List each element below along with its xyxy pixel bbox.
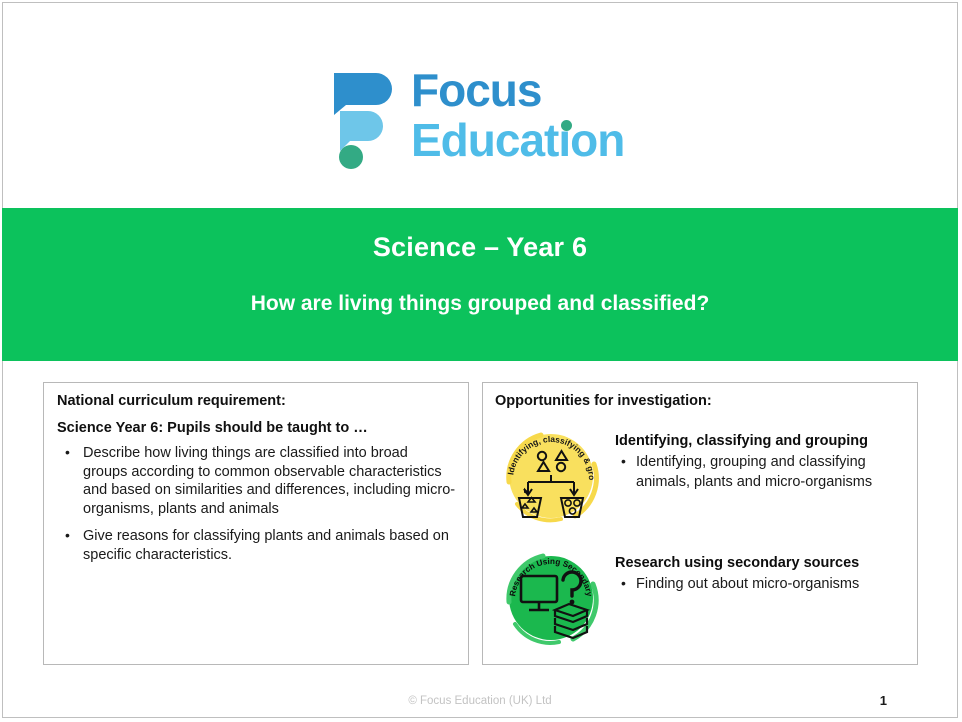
investigation-item-title: Research using secondary sources xyxy=(615,554,907,572)
curriculum-heading: National curriculum requirement: xyxy=(57,393,456,410)
investigation-item-text: Research using secondary sources Finding… xyxy=(607,542,907,595)
investigation-item: Research Using Secondary Sources xyxy=(495,542,907,654)
investigation-item-text: Identifying, classifying and grouping Id… xyxy=(607,420,907,492)
national-curriculum-box: National curriculum requirement: Science… xyxy=(43,382,469,665)
investigation-item-bullets: Identifying, grouping and classifying an… xyxy=(615,453,907,492)
logo-i-dot-icon xyxy=(561,120,572,131)
curriculum-bullet-list: Describe how living things are classifie… xyxy=(57,444,456,564)
footer-copyright: © Focus Education (UK) Ltd xyxy=(3,695,957,707)
identifying-classifying-grouping-badge-icon: Identifying, classifying & grouping xyxy=(495,420,607,532)
list-item: Describe how living things are classifie… xyxy=(57,444,456,518)
curriculum-subheading: Science Year 6: Pupils should be taught … xyxy=(57,420,456,437)
investigation-item: Identifying, classifying & grouping xyxy=(495,420,907,532)
list-item: Identifying, grouping and classifying an… xyxy=(615,453,907,492)
focus-education-wordmark: Focus Education xyxy=(411,65,641,169)
opportunities-for-investigation-box: Opportunities for investigation: Identif… xyxy=(482,382,918,665)
banner-title: Science – Year 6 xyxy=(2,232,958,263)
title-banner: Science – Year 6 How are living things g… xyxy=(2,208,958,361)
investigation-item-title: Identifying, classifying and grouping xyxy=(615,432,907,450)
focus-education-logo: Focus Education xyxy=(328,65,640,169)
logo-text-education: Education xyxy=(411,115,641,165)
list-item: Finding out about micro-organisms xyxy=(615,575,907,595)
investigation-heading: Opportunities for investigation: xyxy=(495,393,907,410)
logo-text-focus: Focus xyxy=(411,65,641,115)
focus-f-logo-mark-icon xyxy=(328,65,398,169)
slide-header: Focus Education xyxy=(3,3,957,206)
research-secondary-sources-badge-icon: Research Using Secondary Sources xyxy=(495,542,607,654)
footer-page-number: 1 xyxy=(880,693,887,708)
investigation-item-bullets: Finding out about micro-organisms xyxy=(615,575,907,595)
logo-text-education-label: Education xyxy=(411,114,624,166)
banner-subtitle: How are living things grouped and classi… xyxy=(2,292,958,316)
list-item: Give reasons for classifying plants and … xyxy=(57,527,456,564)
slide-page: Focus Education Science – Year 6 How are… xyxy=(2,2,958,718)
